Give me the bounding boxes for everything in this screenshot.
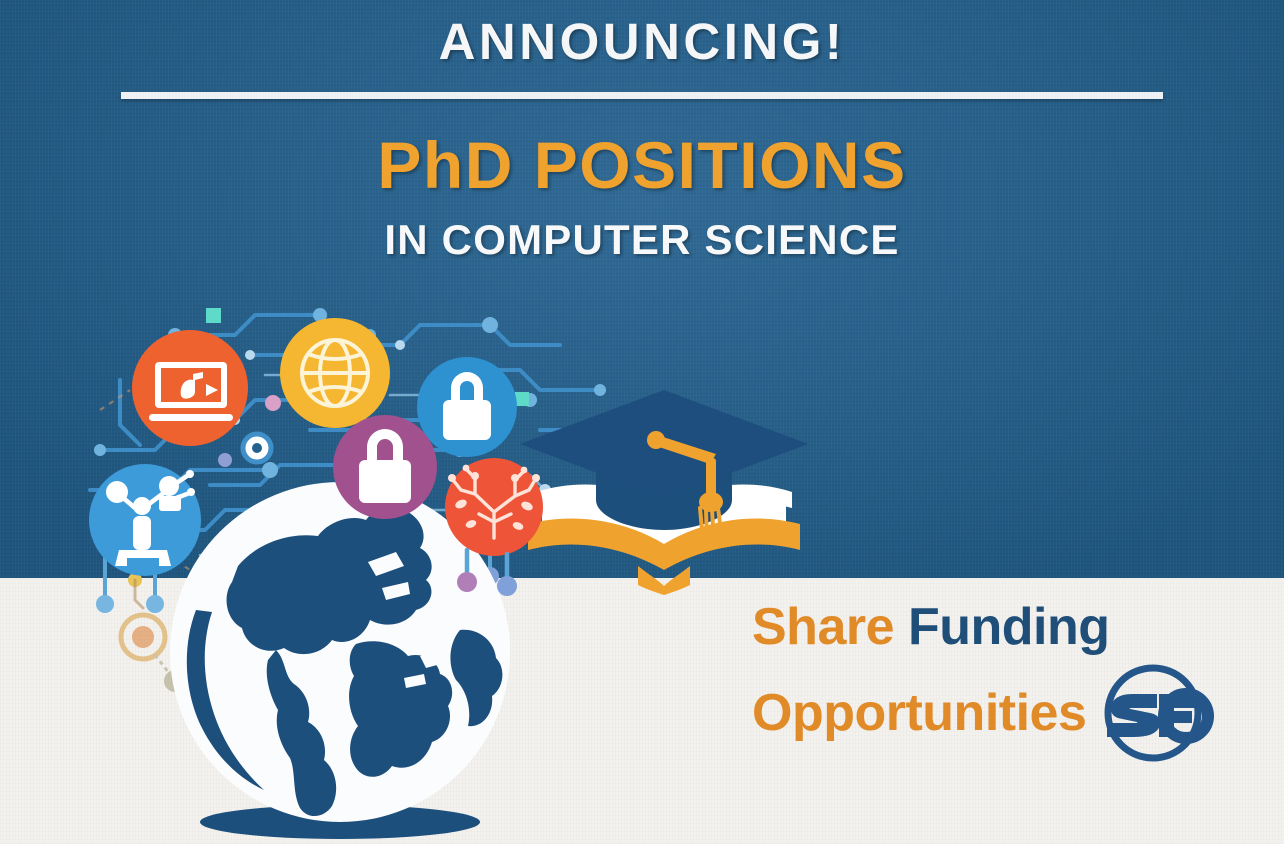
globe-grid-icon bbox=[280, 318, 390, 428]
logo-line-two: Opportunities bbox=[752, 654, 1192, 772]
sfo-logo-block[interactable]: Share Funding Opportunities bbox=[752, 600, 1192, 772]
poster-canvas: ANNOUNCING! PhD POSITIONS IN COMPUTER SC… bbox=[0, 0, 1284, 844]
logo-word-funding: Funding bbox=[908, 598, 1110, 656]
neural-tree-icon bbox=[445, 458, 543, 556]
announcing-heading: ANNOUNCING! bbox=[0, 14, 1284, 70]
logo-line-one: Share Funding bbox=[752, 600, 1192, 654]
headline-block: ANNOUNCING! PhD POSITIONS IN COMPUTER SC… bbox=[0, 0, 1284, 262]
laptop-media-icon bbox=[132, 330, 248, 446]
logo-word-opportunities: Opportunities bbox=[752, 686, 1086, 740]
padlock-purple-icon bbox=[333, 415, 437, 519]
heading-divider-rule bbox=[121, 92, 1163, 99]
padlock-blue-icon bbox=[417, 357, 517, 457]
page-subtitle: IN COMPUTER SCIENCE bbox=[0, 218, 1284, 262]
technology-icon-cluster bbox=[75, 300, 585, 590]
sfo-monogram-icon bbox=[1094, 654, 1212, 772]
network-node-icon bbox=[89, 464, 201, 576]
logo-word-share: Share bbox=[752, 598, 894, 656]
page-title: PhD POSITIONS bbox=[0, 131, 1284, 200]
